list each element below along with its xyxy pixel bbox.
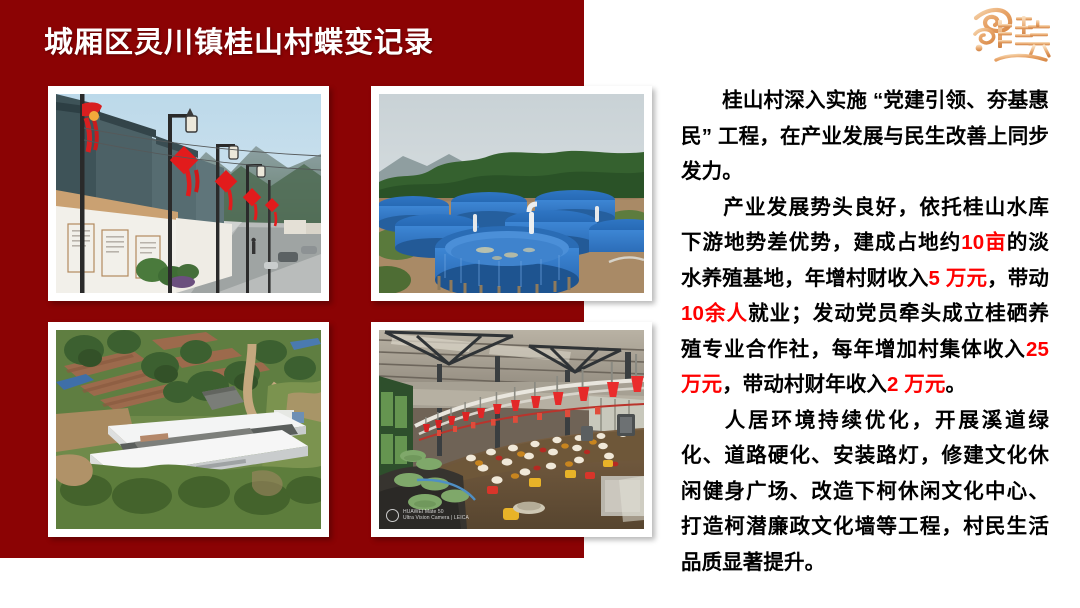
body-text-run: 人居环境持续优化，开展溪道绿化、道路硬化、安装路灯，修建文化休闲健身广场、改造下… (681, 409, 1049, 574)
photo-aquaculture-tanks (371, 86, 652, 301)
photo-village-street (48, 86, 329, 301)
highlighted-figure: 10余人 (681, 302, 748, 325)
photo-poultry-house-interior-image: HUAWEI Mate 50 Ultra Vision Camera | LEI… (379, 330, 644, 529)
paragraph-1: 桂山村深入实施 “党建引领、夯基惠民” 工程，在产业发展与民生改善上同步发力。 (681, 83, 1049, 190)
camera-watermark-line2: Ultra Vision Camera | LEICA (403, 516, 469, 521)
body-text-run: ，带动村财年收入 (722, 373, 887, 396)
body-text-run: 。 (946, 373, 967, 396)
photo-poultry-house-interior: HUAWEI Mate 50 Ultra Vision Camera | LEI… (371, 322, 652, 537)
highlighted-figure: 10亩 (961, 231, 1007, 254)
article-body: 桂山村深入实施 “党建引领、夯基惠民” 工程，在产业发展与民生改善上同步发力。 … (681, 83, 1049, 580)
photo-aquaculture-tanks-image (379, 94, 644, 293)
highlighted-figure: 2 万元 (887, 373, 946, 396)
butterfly-die-bian-logo (966, 4, 1058, 70)
body-text-run: ，带动 (987, 267, 1049, 290)
photo-farm-buildings-aerial (48, 322, 329, 537)
camera-shutter-icon (386, 509, 399, 522)
body-text-run: 桂山村深入实施 “党建引领、夯基惠民” 工程，在产业发展与民生改善上同步发力。 (681, 89, 1049, 183)
highlighted-figure: 5 万元 (929, 267, 988, 290)
paragraph-2: 产业发展势头良好，依托桂山水库下游地势差优势，建成占地约10亩的淡水养殖基地，年… (681, 190, 1049, 403)
camera-watermark: HUAWEI Mate 50 Ultra Vision Camera | LEI… (386, 509, 469, 522)
photo-farm-buildings-aerial-image (56, 330, 321, 529)
photo-village-street-image (56, 94, 321, 293)
paragraph-3: 人居环境持续优化，开展溪道绿化、道路硬化、安装路灯，修建文化休闲健身广场、改造下… (681, 403, 1049, 581)
page-title: 城厢区灵川镇桂山村蝶变记录 (44, 19, 434, 61)
